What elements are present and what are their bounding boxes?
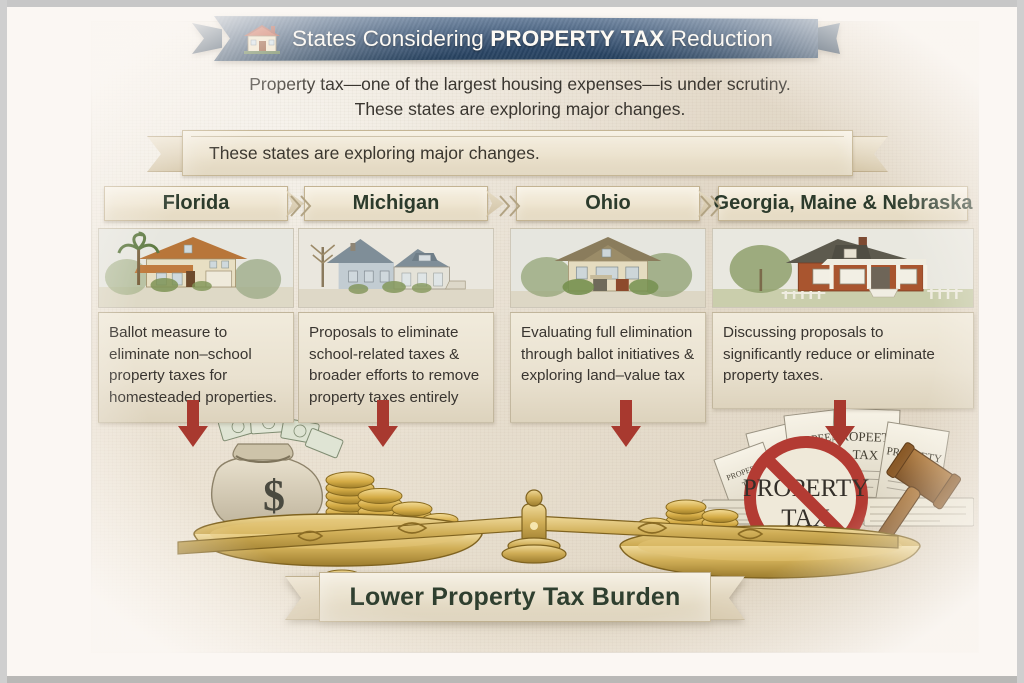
ohio-house-illustration — [510, 228, 706, 308]
frame-top-edge — [0, 0, 1024, 7]
state-columns: Florida — [98, 186, 974, 401]
banner-title: States Considering PROPERTY TAX Reductio… — [292, 26, 773, 52]
footer-ribbon-text: Lower Property Tax Burden — [285, 572, 745, 622]
michigan-house-illustration — [298, 228, 494, 308]
down-arrow-icon-georgia-maine-nebraska — [823, 400, 857, 448]
state-name-label: Michigan — [304, 186, 488, 221]
florida-house-illustration — [98, 228, 294, 308]
down-arrow-icon-ohio — [609, 400, 643, 448]
frame-bottom-edge — [0, 676, 1024, 683]
down-arrow-icon-florida — [176, 400, 210, 448]
state-name-ribbon-michigan: Michigan — [304, 186, 488, 221]
down-arrow-icon-michigan — [366, 400, 400, 448]
banner-title-part2: Reduction — [664, 26, 773, 51]
svg-text:TAX: TAX — [852, 447, 879, 463]
state-name-ribbon-georgia-maine-nebraska: Georgia, Maine & Nebraska — [718, 186, 968, 221]
intro-line-2: These states are exploring major changes… — [150, 97, 890, 122]
georgia-maine-nebraska-house-illustration — [712, 228, 974, 308]
intro-line-1: Property tax—one of the largest housing … — [150, 72, 890, 97]
state-name-ribbon-ohio: Ohio — [516, 186, 700, 221]
footer-ribbon: Lower Property Tax Burden — [285, 572, 745, 622]
scroll-ribbon-text: These states are exploring major changes… — [147, 130, 888, 176]
chevron-separator-2 — [497, 194, 523, 218]
state-name-label: Georgia, Maine & Nebraska — [718, 186, 968, 221]
frame-right-edge — [1017, 0, 1024, 683]
house-icon — [242, 22, 282, 56]
scroll-ribbon: These states are exploring major changes… — [147, 130, 888, 176]
state-description-georgia-maine-nebraska: Discussing proposals to significantly re… — [712, 312, 974, 409]
header-banner: States Considering PROPERTY TAX Reductio… — [214, 16, 818, 61]
frame-left-edge — [0, 0, 7, 683]
state-name-label: Ohio — [516, 186, 700, 221]
state-description-ohio: Evaluating full elimination through ball… — [510, 312, 706, 423]
state-column-ohio: Ohio — [510, 186, 706, 423]
state-name-label: Florida — [104, 186, 288, 221]
state-column-michigan: Michigan — [298, 186, 494, 423]
state-name-ribbon-florida: Florida — [104, 186, 288, 221]
state-column-georgia-maine-nebraska: Georgia, Maine & Nebraska — [712, 186, 974, 409]
banner-title-emphasis: PROPERTY TAX — [490, 26, 664, 51]
infographic-root: States Considering PROPERTY TAX Reductio… — [0, 0, 1024, 683]
chevron-separator-1 — [288, 194, 314, 218]
banner-title-part1: States Considering — [292, 26, 490, 51]
chevron-separator-3 — [698, 194, 724, 218]
intro-text: Property tax—one of the largest housing … — [150, 72, 890, 122]
money-bag-dollar-symbol: $ — [263, 471, 285, 520]
state-column-florida: Florida — [98, 186, 294, 423]
